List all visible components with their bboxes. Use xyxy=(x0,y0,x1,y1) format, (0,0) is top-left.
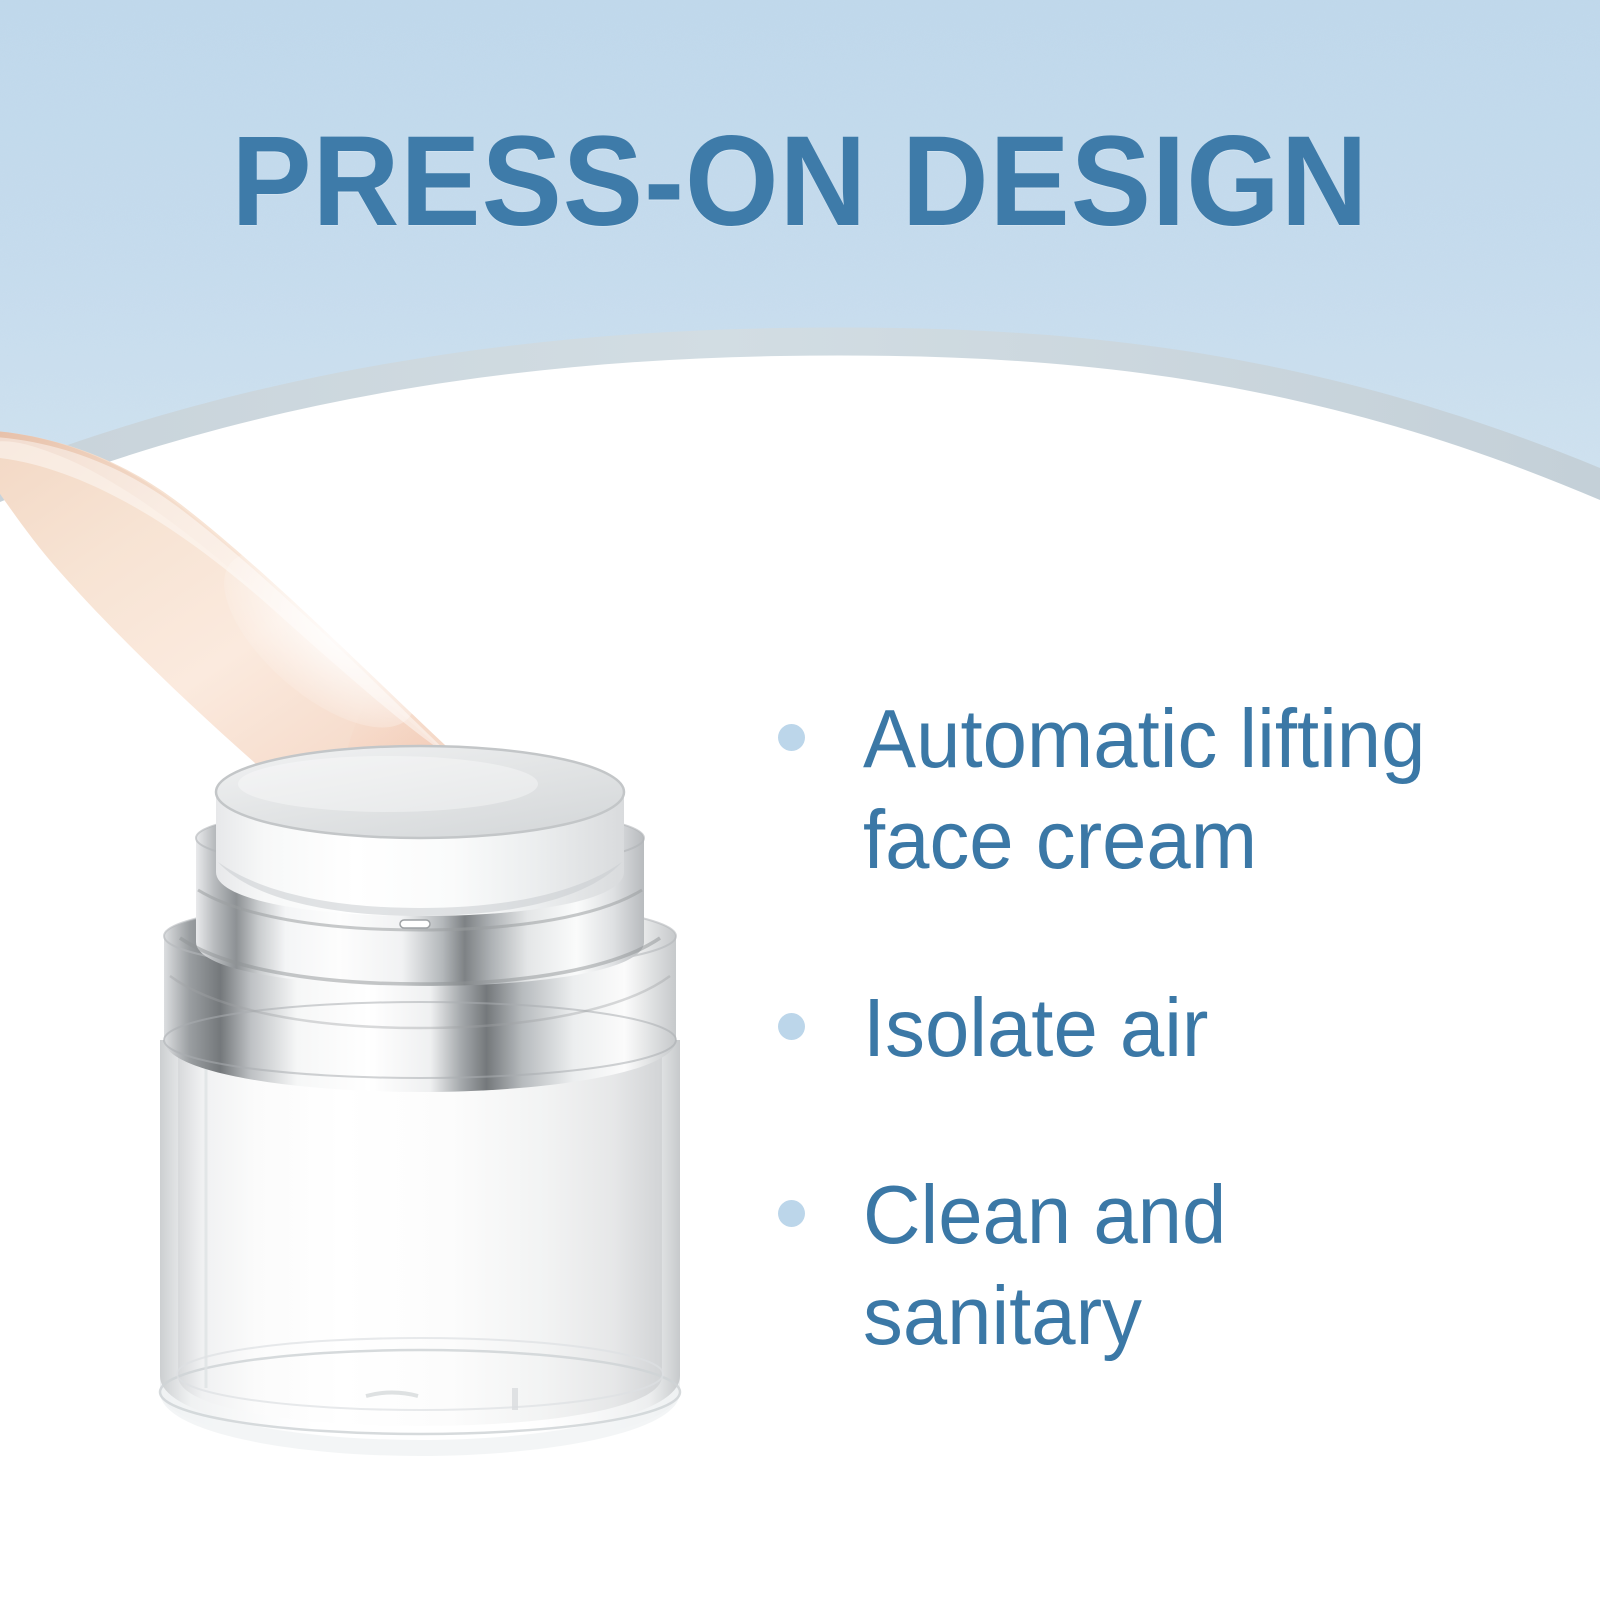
feature-label: Automatic lifting face cream xyxy=(863,688,1511,891)
bullet-icon xyxy=(778,1200,805,1227)
fingernail-highlight xyxy=(196,522,445,758)
bullet-icon xyxy=(778,724,805,751)
mould-mark xyxy=(512,1388,518,1410)
list-item: Clean and sanitary xyxy=(778,1164,1538,1367)
product-feature-poster: PRESS-ON DESIGN xyxy=(0,0,1600,1600)
list-item: Automatic lifting face cream xyxy=(778,688,1538,891)
list-item: Isolate air xyxy=(778,977,1538,1078)
lid-top-sheen xyxy=(238,756,538,812)
feature-label: Clean and sanitary xyxy=(863,1164,1511,1367)
feature-list: Automatic lifting face cream Isolate air… xyxy=(778,688,1538,1366)
press-down-lid xyxy=(216,746,624,916)
collar-vent-slot xyxy=(400,920,430,928)
pearl-white-jar-body xyxy=(160,1040,680,1456)
bullet-icon xyxy=(778,1013,805,1040)
airless-pump-cream-jar xyxy=(120,740,760,1480)
inner-pearl-cylinder xyxy=(178,1040,662,1426)
header-band: PRESS-ON DESIGN xyxy=(0,0,1600,520)
feature-label: Isolate air xyxy=(863,977,1511,1078)
page-title: PRESS-ON DESIGN xyxy=(48,118,1552,246)
